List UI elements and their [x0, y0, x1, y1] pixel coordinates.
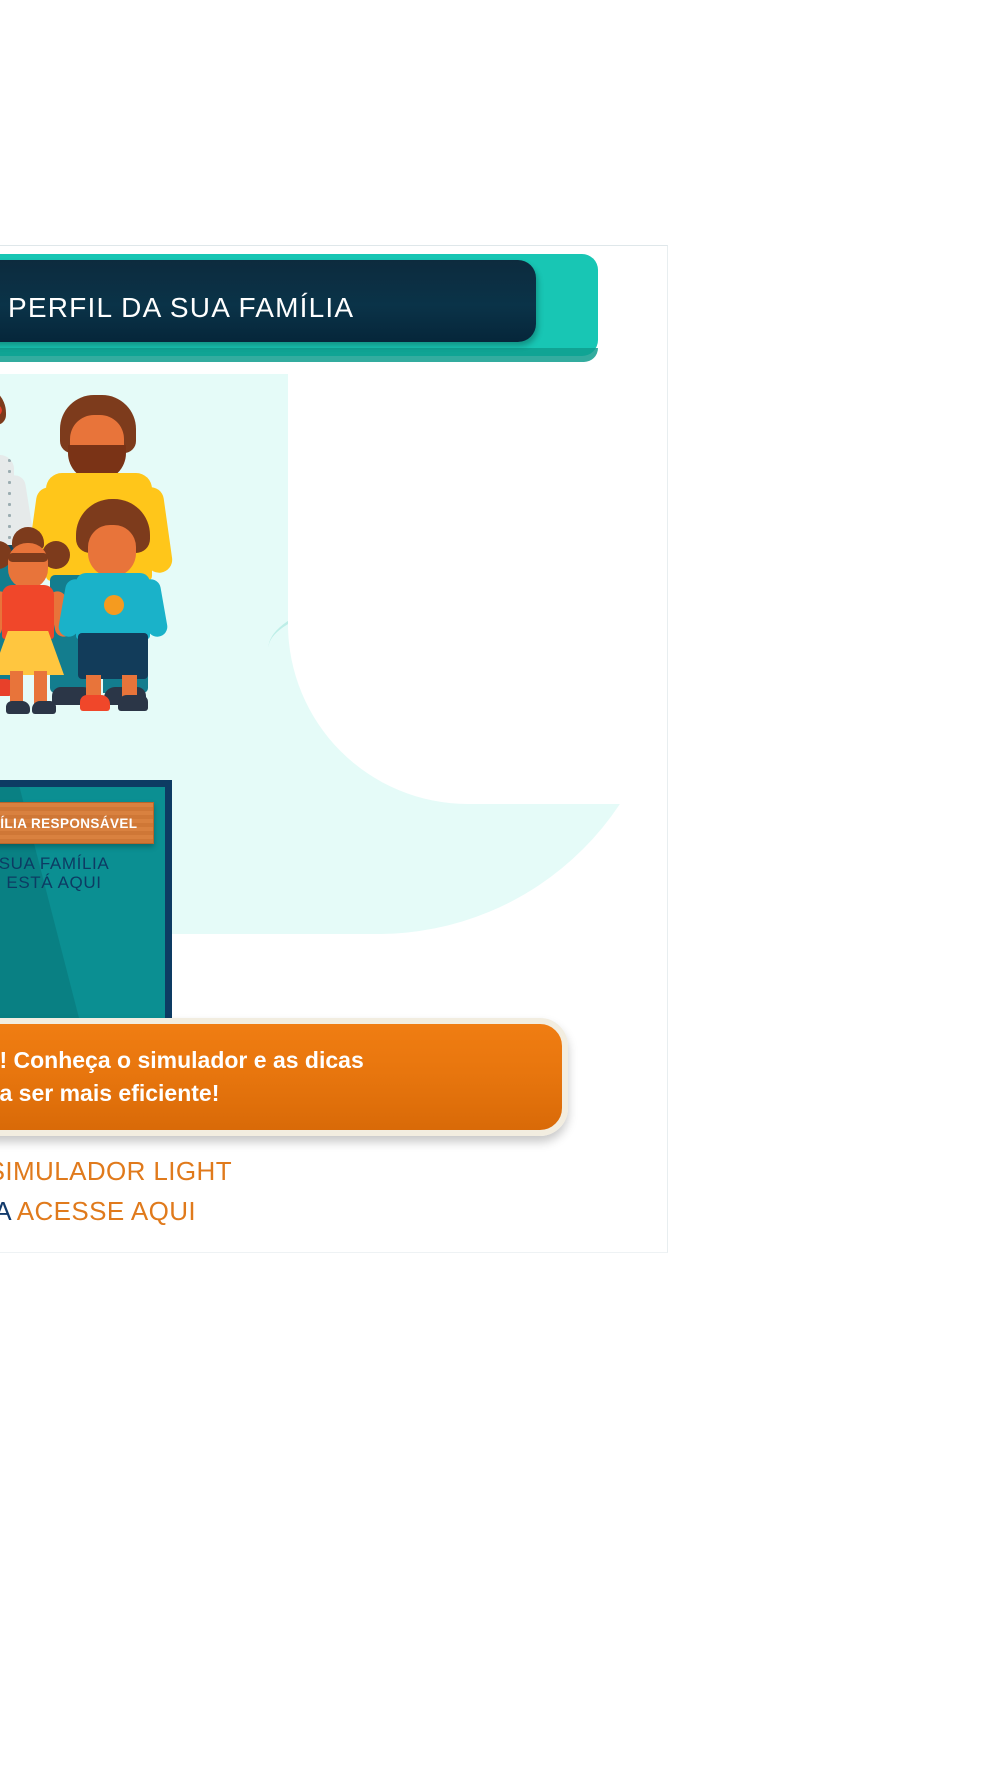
podium-staircase: FAMÍLIA RESPONSÁVEL SUA FAMÍLIA ESTÁ AQU…: [0, 772, 668, 1024]
family-illustration: [0, 379, 208, 804]
energy-saving-link[interactable]: MIA DE ENERGIA ACESSE AQUI: [0, 1191, 668, 1231]
energy-saving-link-prefix: MIA DE ENERGIA: [0, 1196, 11, 1226]
plaque-label: FAMÍLIA RESPONSÁVEL: [0, 816, 137, 831]
your-family-here-marker: SUA FAMÍLIA ESTÁ AQUI: [0, 854, 154, 892]
here-marker-line-2: ESTÁ AQUI: [0, 873, 154, 892]
callout-line-1: de consumo! Conheça o simulador e as dic…: [0, 1044, 562, 1077]
figure-boy: [60, 499, 164, 717]
illustration-stage: FAMÍLIA RESPONSÁVEL SUA FAMÍLIA ESTÁ AQU…: [0, 374, 668, 1024]
backdrop-corner-white: [288, 374, 668, 804]
simulator-link-label[interactable]: CONSUMO NO SIMULADOR LIGHT: [0, 1156, 232, 1186]
family-profile-card: PERFIL DA SUA FAMÍLIA: [0, 245, 668, 1253]
page-title: PERFIL DA SUA FAMÍLIA: [8, 292, 354, 324]
here-marker-line-1: SUA FAMÍLIA: [0, 854, 154, 873]
energy-saving-link-cta[interactable]: ACESSE AQUI: [17, 1196, 196, 1226]
callout-banner: de consumo! Conheça o simulador e as dic…: [0, 1018, 568, 1136]
card-bottom-divider: [0, 1252, 668, 1253]
page-root: PERFIL DA SUA FAMÍLIA: [0, 0, 1000, 1778]
simulator-link[interactable]: CONSUMO NO SIMULADOR LIGHT: [0, 1151, 668, 1191]
responsible-family-plaque: FAMÍLIA RESPONSÁVEL: [0, 802, 154, 844]
footer-links: CONSUMO NO SIMULADOR LIGHT MIA DE ENERGI…: [0, 1151, 668, 1231]
callout-line-2: ainda dá para ser mais eficiente!: [0, 1077, 562, 1110]
